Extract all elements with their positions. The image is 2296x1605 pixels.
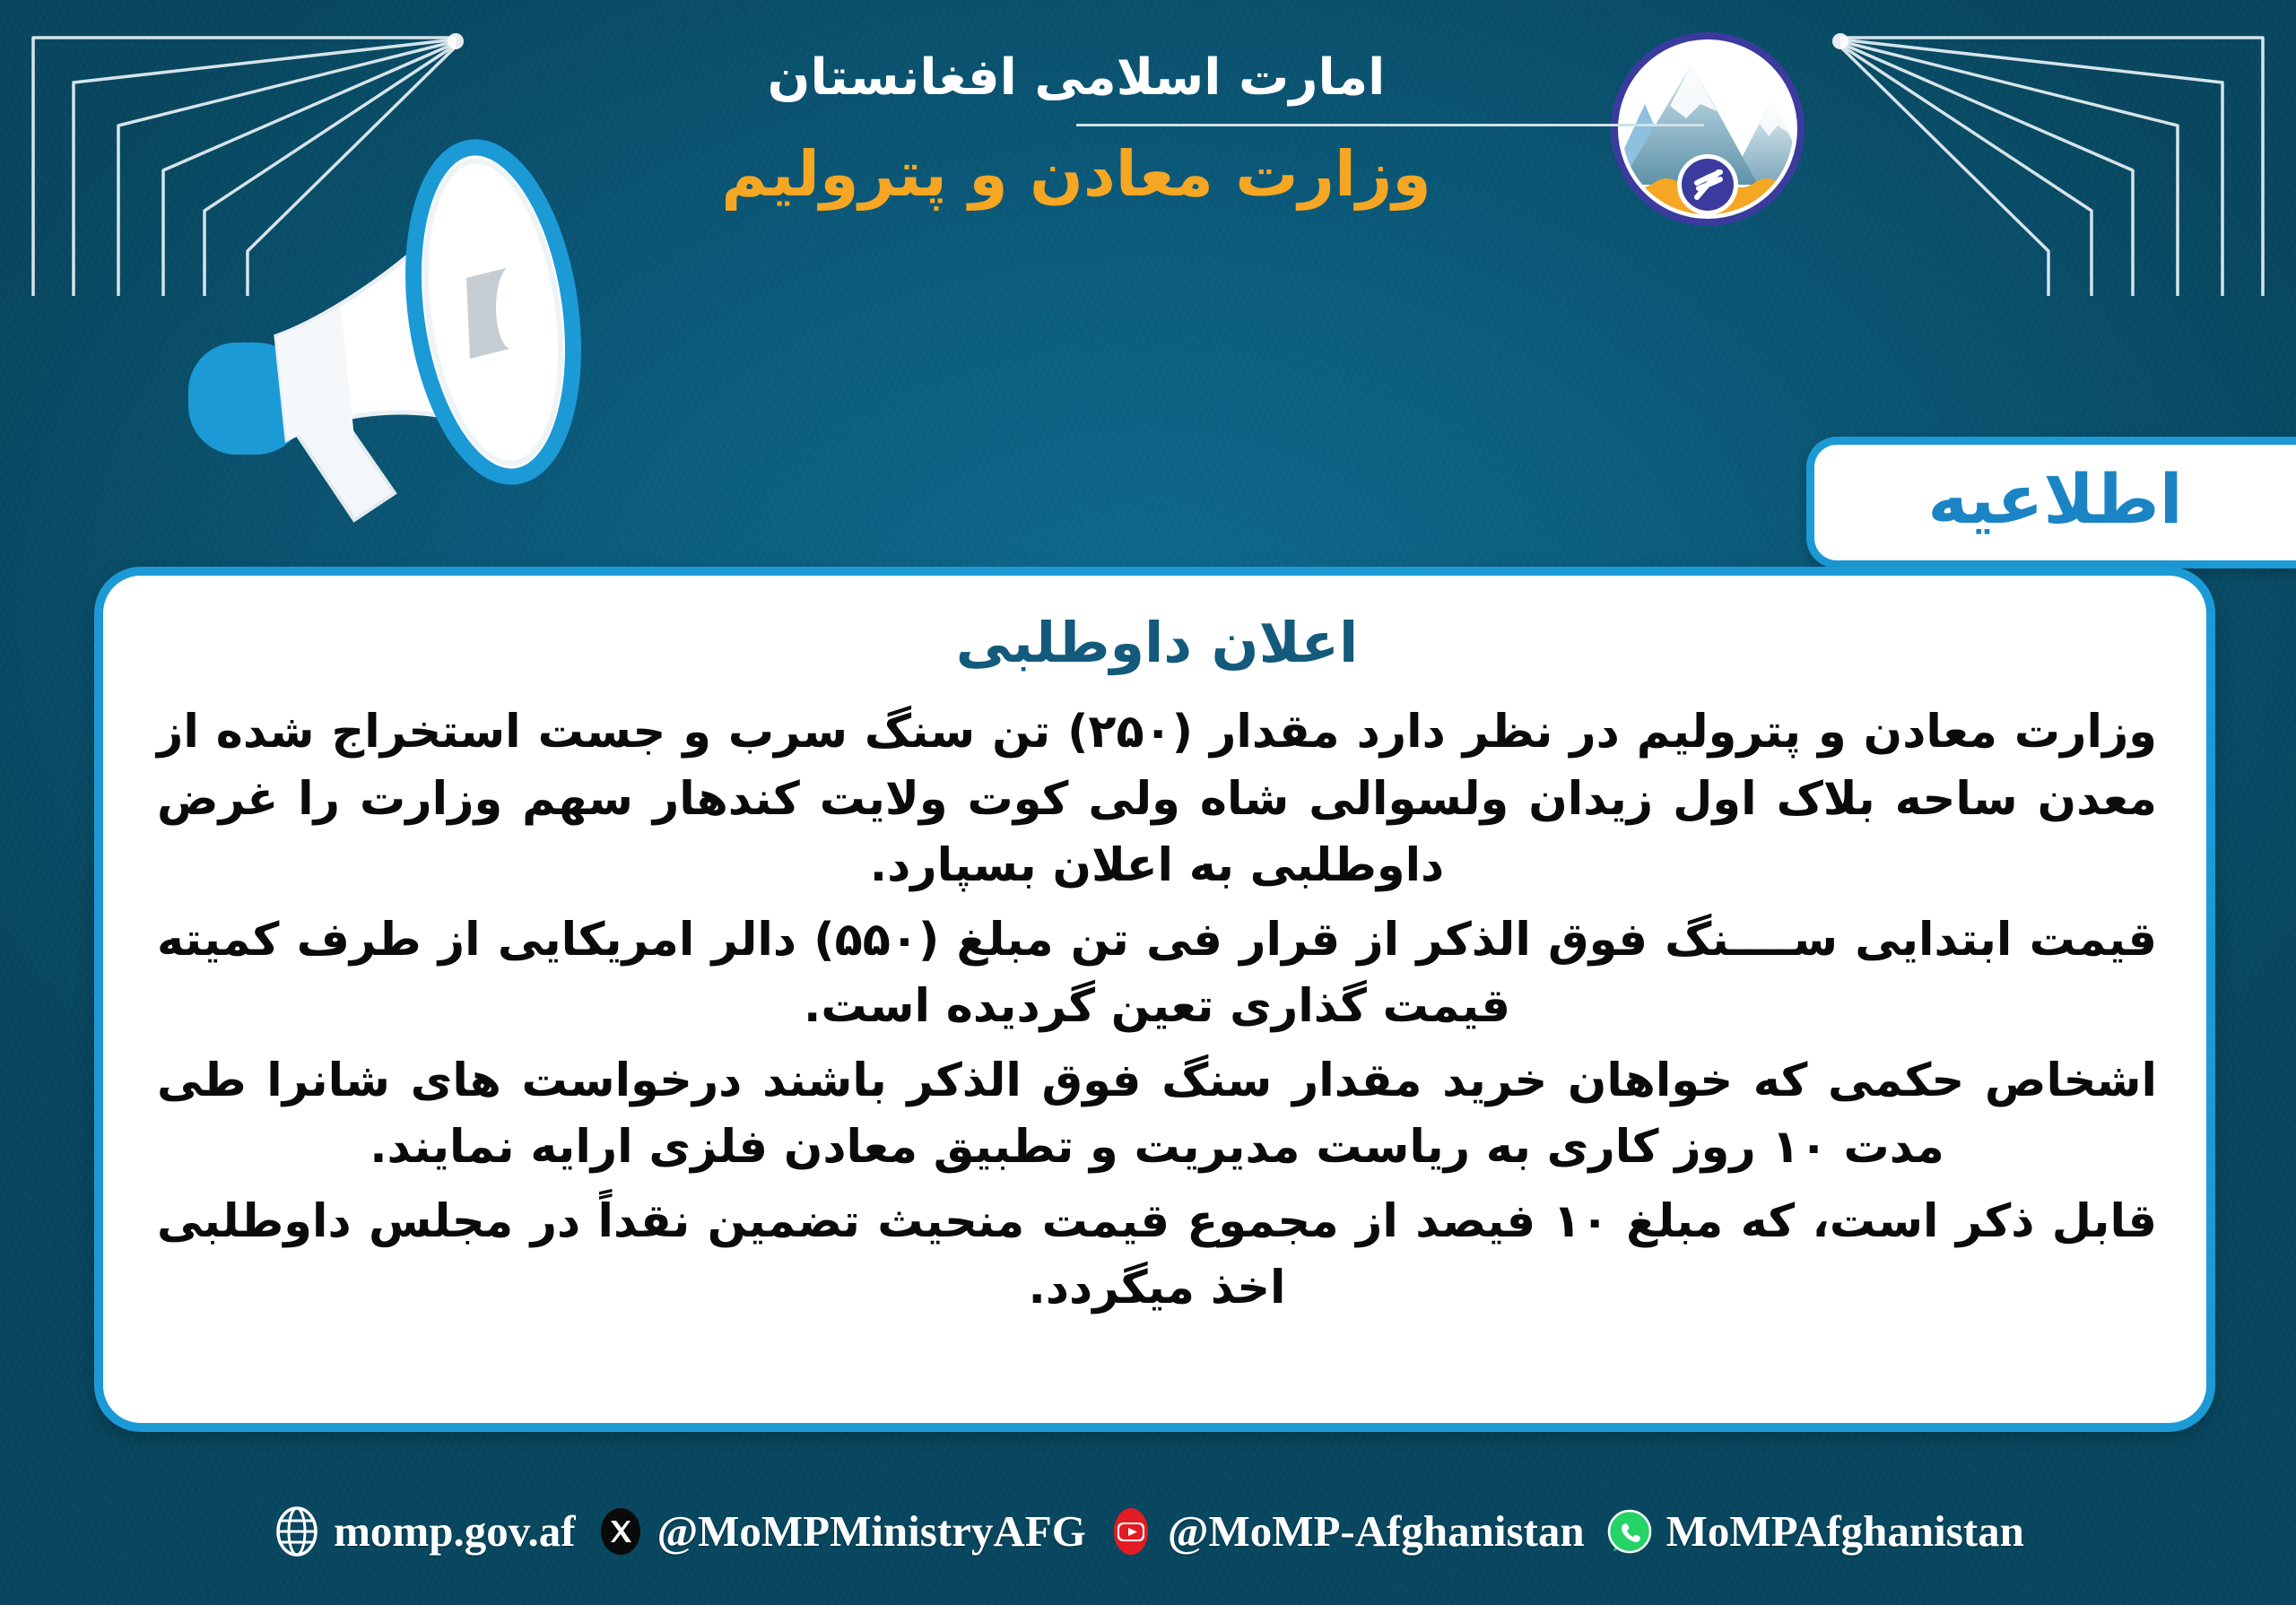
footer-label-website: momp.gov.af bbox=[334, 1505, 576, 1557]
announcement-paragraph: قیمت ابتدایی ســــنگ فوق الذکر از قرار ف… bbox=[157, 907, 2157, 1041]
footer-item-x-twitter[interactable]: @MoMPMinistryAFG bbox=[596, 1505, 1086, 1557]
footer-label-whatsapp: MoMPAfghanistan bbox=[1666, 1505, 2024, 1557]
card-title: اعلان داوطلبی bbox=[157, 610, 2157, 676]
emirate-title: امارت اسلامی افغانستان bbox=[448, 47, 1865, 109]
announcement-poster: امارت اسلامی افغانستان وزارت معادن و پتر… bbox=[0, 0, 2296, 1605]
poster-header: امارت اسلامی افغانستان وزارت معادن و پتر… bbox=[448, 47, 1865, 215]
announcement-paragraph: وزارت معادن و پترولیم در نظر دارد مقدار … bbox=[157, 699, 2157, 899]
globe-icon bbox=[272, 1506, 322, 1557]
footer-item-youtube[interactable]: @MoMP-Afghanistan bbox=[1106, 1505, 1585, 1557]
ministry-title: وزارت معادن و پترولیم bbox=[448, 134, 1865, 215]
footer-item-website[interactable]: momp.gov.af bbox=[272, 1505, 576, 1557]
announcement-paragraph: اشخاص حکمی که خواهان خرید مقدار سنگ فوق … bbox=[157, 1048, 2157, 1182]
whatsapp-icon bbox=[1605, 1506, 1655, 1557]
announcement-paragraph: قابل ذکر است، که مبلغ ۱۰ فیصد از مجموع ق… bbox=[157, 1189, 2157, 1323]
announcement-ribbon-label: اطلاعیه bbox=[1927, 465, 2182, 534]
youtube-icon bbox=[1106, 1506, 1156, 1557]
corner-lines-decoration-right bbox=[1830, 0, 2296, 296]
footer-social-bar: momp.gov.af @MoMPMinistryAFG @MoMP-Afgha… bbox=[0, 1505, 2296, 1557]
announcement-card: اعلان داوطلبی وزارت معادن و پترولیم در ن… bbox=[94, 567, 2215, 1432]
footer-label-x-twitter: @MoMPMinistryAFG bbox=[657, 1505, 1086, 1557]
footer-label-youtube: @MoMP-Afghanistan bbox=[1168, 1505, 1585, 1557]
announcement-ribbon: اطلاعیه bbox=[1806, 437, 2296, 568]
x-twitter-icon bbox=[596, 1506, 646, 1557]
footer-item-whatsapp[interactable]: MoMPAfghanistan bbox=[1605, 1505, 2024, 1557]
header-divider bbox=[1076, 124, 1704, 126]
